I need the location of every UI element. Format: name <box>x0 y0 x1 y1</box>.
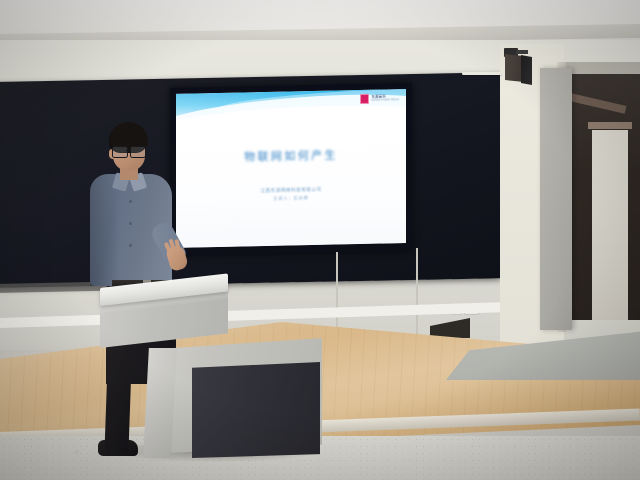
lectern-leg <box>143 348 177 458</box>
lecture-photo-scene: 东源高科 DONGYUAN TECH 物联网如何产生 江西东源网络科技有限公司 … <box>0 0 640 480</box>
presenter-shirt-button <box>129 222 132 225</box>
presenter-shirt-button <box>129 244 132 247</box>
projection-screen-frame: 东源高科 DONGYUAN TECH 物联网如何产生 江西东源网络科技有限公司 … <box>170 83 412 256</box>
projection-screen: 东源高科 DONGYUAN TECH 物联网如何产生 江西东源网络科技有限公司 … <box>176 89 406 248</box>
door-panel[interactable] <box>540 68 572 330</box>
presenter-shirt-button <box>129 200 132 203</box>
door-lintel <box>588 122 632 129</box>
slide-logo: 东源高科 DONGYUAN TECH <box>360 93 399 104</box>
eyeglass-lens-right <box>130 146 146 158</box>
eyeglasses-icon <box>112 146 146 156</box>
logo-mark-icon <box>360 94 369 104</box>
eyeglass-lens-left <box>112 146 128 158</box>
lectern-front-panel <box>192 362 320 458</box>
speaker-arm <box>516 50 528 54</box>
wall-seam <box>416 248 418 348</box>
speaker-grille <box>521 55 532 85</box>
wall-conduit <box>462 72 502 75</box>
logo-secondary-text: DONGYUAN TECH <box>371 99 399 103</box>
presenter-shirt-shading <box>90 174 120 286</box>
corridor-wall <box>592 130 628 320</box>
